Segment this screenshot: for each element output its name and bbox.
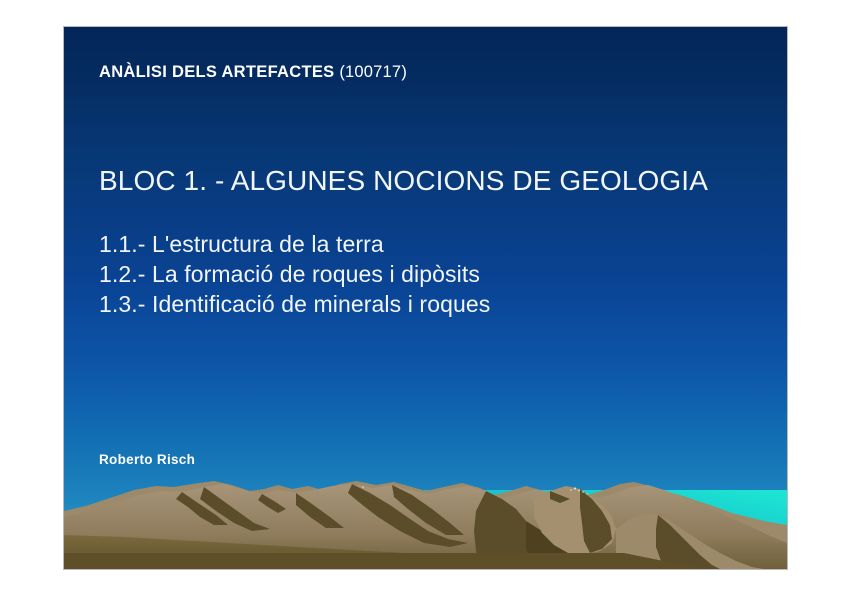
page-canvas: ANÀLISI DELS ARTEFACTES (100717) BLOC 1.… xyxy=(0,0,848,599)
toc-item: 1.2.- La formació de roques i dipòsits xyxy=(99,259,490,289)
presentation-slide: ANÀLISI DELS ARTEFACTES (100717) BLOC 1.… xyxy=(64,27,787,569)
slide-kicker-title: ANÀLISI DELS ARTEFACTES (100717) xyxy=(99,63,407,82)
table-of-contents-list: 1.1.- L'estructura de la terra 1.2.- La … xyxy=(99,229,490,319)
foreground-base-taper xyxy=(64,553,704,569)
slide-main-heading: BLOC 1. - ALGUNES NOCIONS DE GEOLOGIA xyxy=(99,165,708,197)
author-name: Roberto Risch xyxy=(99,452,195,467)
toc-item: 1.1.- L'estructura de la terra xyxy=(99,229,490,259)
slide-kicker-title-code: (100717) xyxy=(339,63,407,81)
mountain-range-and-sea-illustration xyxy=(64,473,787,569)
toc-item: 1.3.- Identificació de minerals i roques xyxy=(99,289,490,319)
slide-kicker-title-main: ANÀLISI DELS ARTEFACTES xyxy=(99,63,339,81)
